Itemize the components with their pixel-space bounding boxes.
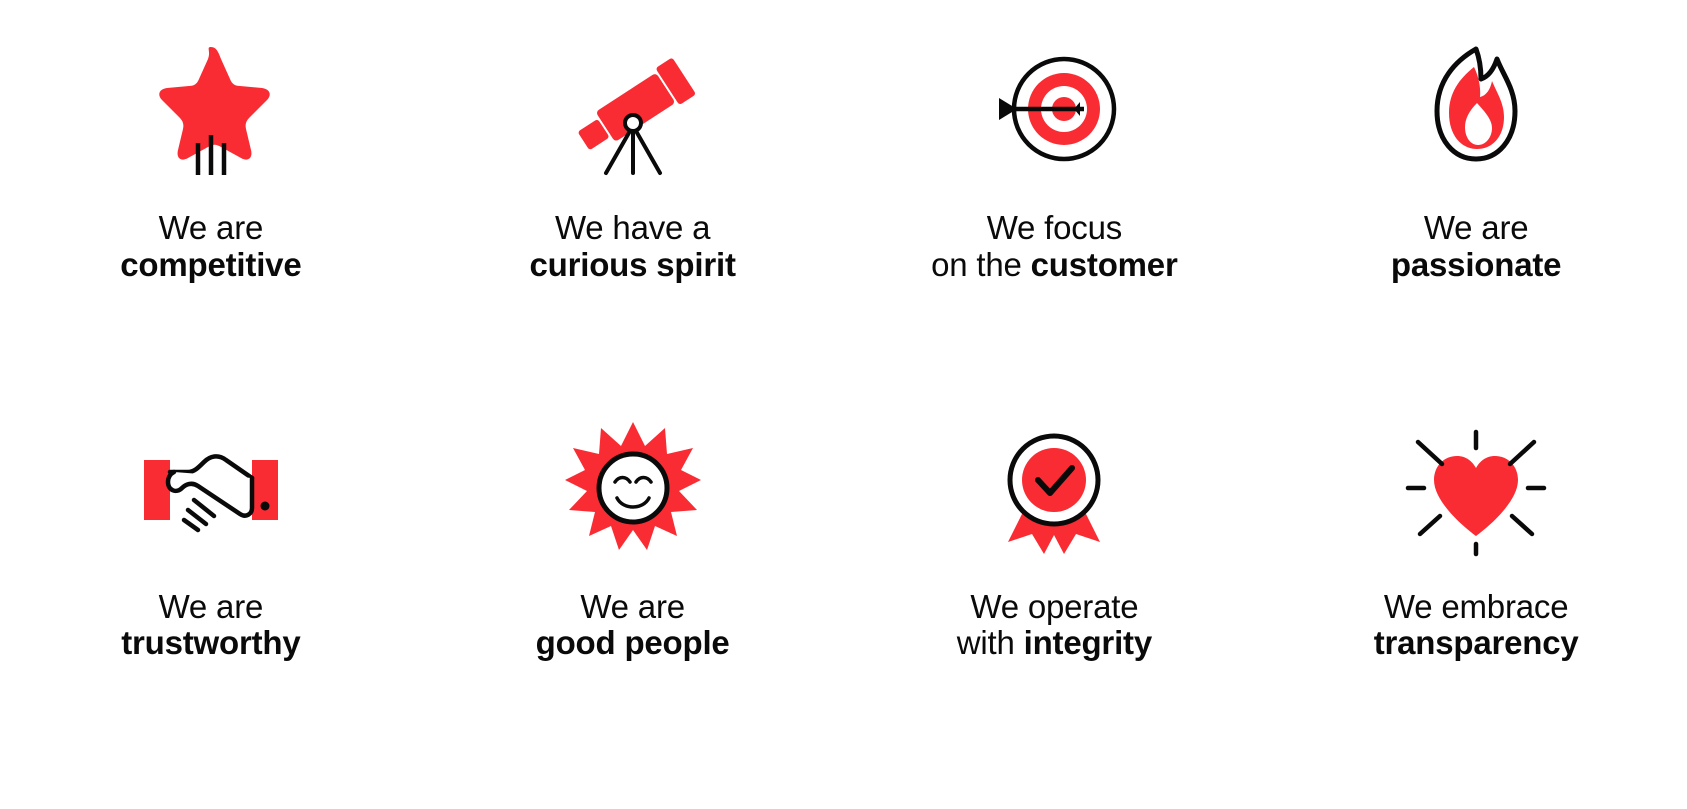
value-line-1: We are	[159, 588, 264, 625]
value-label: We embrace transparency	[1374, 589, 1579, 663]
value-line-1: We operate	[970, 588, 1138, 625]
value-line-2: transparency	[1374, 625, 1579, 662]
company-values-grid: We are competitive We have a	[0, 0, 1687, 809]
value-line-1: We focus	[987, 209, 1122, 246]
shooting-star-icon	[116, 34, 306, 184]
value-card-passionate: We are passionate	[1265, 12, 1687, 391]
shining-heart-icon	[1381, 413, 1571, 563]
value-line-2: trustworthy	[121, 625, 300, 662]
value-line-2-bold: passionate	[1391, 246, 1561, 283]
value-card-curious-spirit: We have a curious spirit	[422, 12, 844, 391]
telescope-icon	[538, 34, 728, 184]
handshake-icon	[116, 413, 306, 563]
value-line-2: curious spirit	[530, 247, 736, 284]
value-line-2: good people	[536, 625, 730, 662]
value-line-2-bold: curious spirit	[530, 246, 736, 283]
value-line-2-bold: good people	[536, 624, 730, 661]
value-label: We are competitive	[120, 210, 301, 284]
value-card-good-people: We are good people	[422, 391, 844, 770]
value-label: We are trustworthy	[121, 589, 300, 663]
value-line-2-bold: transparency	[1374, 624, 1579, 661]
value-line-1: We are	[159, 209, 264, 246]
value-line-2-bold: competitive	[120, 246, 301, 283]
value-line-1: We are	[1424, 209, 1529, 246]
value-line-1: We are	[580, 588, 685, 625]
value-line-1: We have a	[555, 209, 710, 246]
value-card-transparency: We embrace transparency	[1265, 391, 1687, 770]
value-line-2: competitive	[120, 247, 301, 284]
value-label: We focus on the customer	[931, 210, 1177, 284]
value-label: We are passionate	[1391, 210, 1561, 284]
value-line-2-plain: with	[957, 624, 1024, 661]
value-line-2-plain: on the	[931, 246, 1031, 283]
value-line-2: with integrity	[957, 625, 1152, 662]
value-line-2-bold: integrity	[1024, 624, 1152, 661]
value-label: We operate with integrity	[957, 589, 1152, 663]
value-card-customer: We focus on the customer	[844, 12, 1266, 391]
target-arrow-icon	[959, 34, 1149, 184]
value-label: We have a curious spirit	[530, 210, 736, 284]
check-badge-icon	[959, 413, 1149, 563]
flame-icon	[1381, 34, 1571, 184]
value-card-integrity: We operate with integrity	[844, 391, 1266, 770]
value-card-competitive: We are competitive	[0, 12, 422, 391]
value-line-1: We embrace	[1384, 588, 1568, 625]
value-line-2: passionate	[1391, 247, 1561, 284]
value-line-2-bold: customer	[1031, 246, 1178, 283]
value-label: We are good people	[536, 589, 730, 663]
value-line-2: on the customer	[931, 247, 1177, 284]
value-card-trustworthy: We are trustworthy	[0, 391, 422, 770]
smiling-sun-icon	[538, 413, 728, 563]
value-line-2-bold: trustworthy	[121, 624, 300, 661]
